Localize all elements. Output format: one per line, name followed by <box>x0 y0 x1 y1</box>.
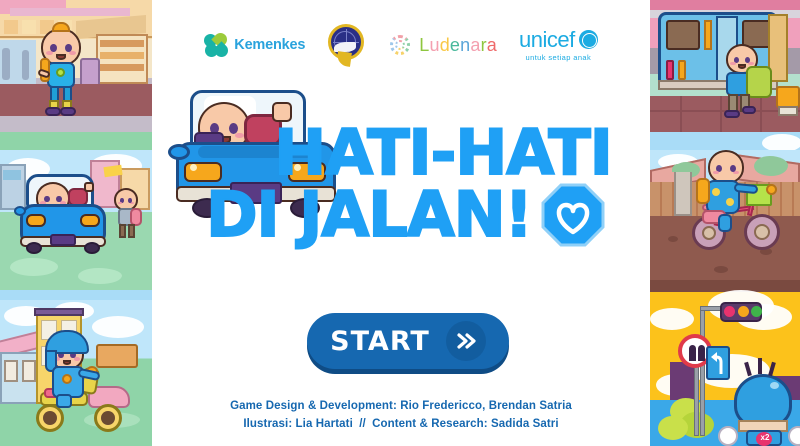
ludenara-letter: e <box>450 35 460 55</box>
ludenara-letter: a <box>487 35 497 55</box>
hero-car-illustration <box>168 86 350 220</box>
logo-kemenkes: Kemenkes <box>204 33 305 57</box>
start-button[interactable]: START <box>307 313 509 369</box>
traffic-light-green <box>751 306 762 317</box>
logo-kemenkes-label: Kemenkes <box>234 37 305 53</box>
panel-bicycle <box>650 150 800 280</box>
ludenara-spiral-icon <box>387 32 413 58</box>
ludenara-letter: d <box>440 35 450 55</box>
ludenara-letter: a <box>470 35 480 55</box>
heart-octagon-badge-icon <box>540 182 606 248</box>
ludenara-letter: L <box>419 35 429 55</box>
logo-ludenara: Ludenara <box>387 32 497 58</box>
panel-scooter-kid <box>0 300 152 446</box>
start-button-label: START <box>330 326 430 357</box>
credits-line-2: Ilustrasi: Lia Hartati // Content & Rese… <box>152 416 650 434</box>
traffic-light-red <box>724 306 735 317</box>
hero-character-hand <box>272 102 292 122</box>
panel-bus-stop <box>650 0 800 150</box>
center-stage: Kemenkes Ludenara unicef <box>152 0 650 446</box>
credits-illustration: Ilustrasi: Lia Hartati <box>243 418 353 430</box>
kemenkes-clover-icon <box>204 33 228 57</box>
logo-unicef-tagline: untuk setiap anak <box>519 53 598 62</box>
credits-content-research: Content & Research: Sadida Satri <box>372 418 559 430</box>
panel-car-street <box>0 150 152 300</box>
turn-left-sign <box>706 346 730 380</box>
hero-car-mirror <box>168 144 190 160</box>
sponsor-logo-bar: Kemenkes Ludenara unicef <box>152 16 650 74</box>
heart-badge-count: x2 <box>758 433 772 442</box>
logo-kemenhub <box>327 24 365 66</box>
panel-boy-running-shop <box>0 0 152 150</box>
globe-emblem-icon <box>327 24 365 66</box>
right-illustration-column: x2 <box>650 0 800 446</box>
double-chevron-right-icon <box>446 321 486 361</box>
ludenara-letter: n <box>460 35 470 55</box>
unicef-emblem-icon <box>579 30 598 49</box>
left-illustration-column <box>0 0 152 446</box>
credits-separator: // <box>356 418 369 430</box>
game-title-screen: x2 Kemenkes <box>0 0 800 446</box>
hero-car-plate <box>230 182 282 204</box>
logo-unicef-label: unicef <box>519 29 575 51</box>
logo-unicef: unicef untuk setiap anak <box>519 29 598 62</box>
traffic-light-yellow <box>738 306 749 317</box>
panel-traffic-signs: x2 <box>650 280 800 446</box>
credits-line-1: Game Design & Development: Rio Fredericc… <box>152 398 650 416</box>
logo-ludenara-label: Ludenara <box>419 35 497 56</box>
credits: Game Design & Development: Rio Fredericc… <box>152 398 650 434</box>
ludenara-letter: u <box>429 35 439 55</box>
